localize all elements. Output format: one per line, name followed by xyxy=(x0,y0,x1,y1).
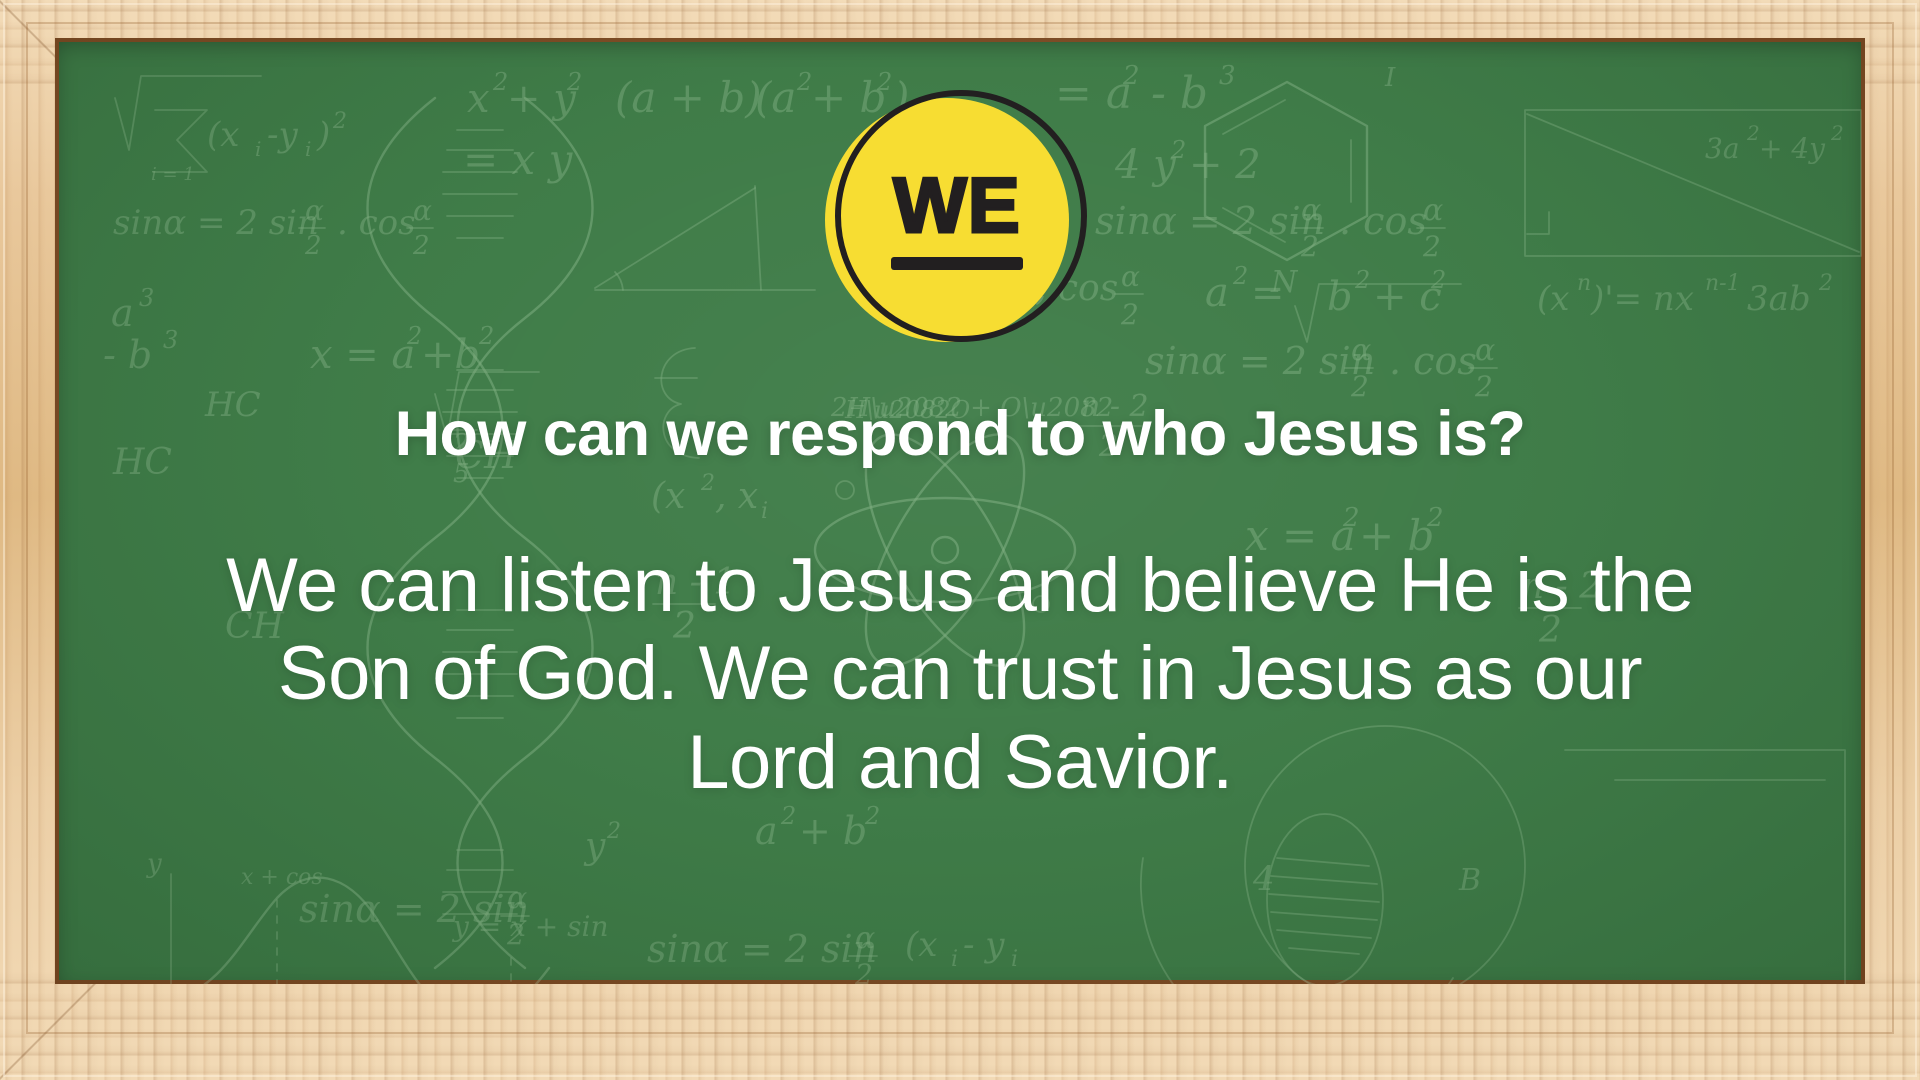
page-title: How can we respond to who Jesus is? xyxy=(395,400,1526,469)
chalkboard-surface: (x i -y i ) 2 i = 1 sinα = 2 sin α 2 . c… xyxy=(55,38,1865,984)
slide-content: WE How can we respond to who Jesus is? W… xyxy=(55,38,1865,984)
logo-underline-bar xyxy=(891,257,1023,270)
we-logo: WE xyxy=(825,84,1095,354)
chalkboard-slide: (x i -y i ) 2 i = 1 sinα = 2 sin α 2 . c… xyxy=(0,0,1920,1080)
logo-mark: WE xyxy=(835,98,1079,342)
body-paragraph: We can listen to Jesus and believe He is… xyxy=(220,542,1700,809)
logo-wordmark: WE xyxy=(893,170,1021,240)
